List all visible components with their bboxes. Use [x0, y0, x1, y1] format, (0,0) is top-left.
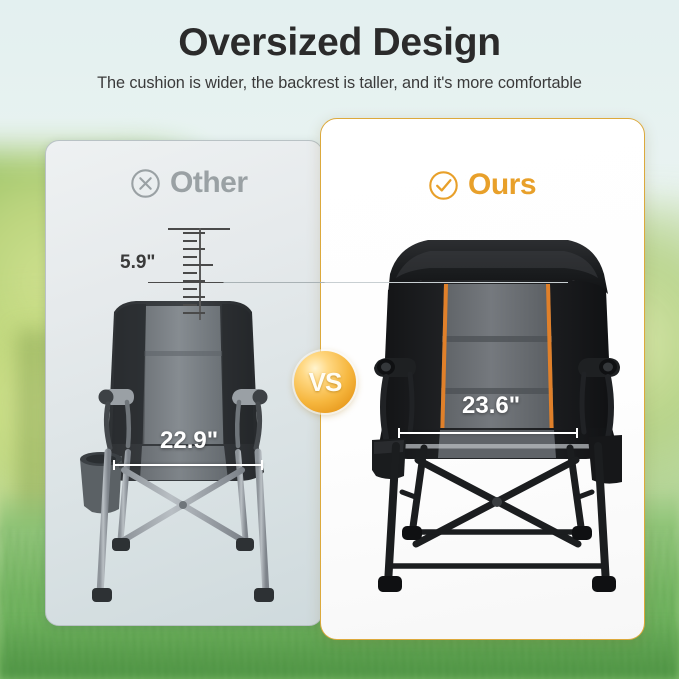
ruler-tick [183, 288, 197, 290]
ruler-tick [183, 240, 197, 242]
measure-reference-line-span [148, 282, 568, 283]
ruler-stem [199, 228, 201, 320]
circle-check-icon [428, 170, 459, 201]
ruler-tick [183, 296, 205, 298]
ruler-tick [183, 312, 205, 314]
height-ruler [183, 228, 217, 320]
ruler-tick [183, 248, 205, 250]
measure-label-backrest-extra: 5.9" [120, 252, 155, 274]
ruler-tick [183, 264, 213, 266]
measure-label-seat-width-ours: 23.6" [462, 392, 520, 420]
width-bar-other [113, 464, 263, 466]
width-bar-ours [398, 432, 578, 434]
measure-label-seat-width-other: 22.9" [160, 427, 218, 455]
header: Oversized Design The cushion is wider, t… [0, 22, 679, 93]
panel-header-other-label: Other [170, 166, 248, 200]
page-subtitle: The cushion is wider, the backrest is ta… [0, 74, 679, 93]
ruler-tick [183, 256, 197, 258]
ruler-tick [183, 304, 197, 306]
ruler-tick [183, 272, 197, 274]
chair-image-ours [372, 232, 622, 614]
ruler-tick [183, 232, 205, 234]
page-title: Oversized Design [0, 22, 679, 65]
vs-badge-label: VS [309, 367, 342, 398]
vs-badge: VS [294, 351, 356, 413]
panel-header-other: Other [130, 166, 248, 200]
panel-header-ours-label: Ours [468, 168, 536, 202]
panel-header-ours: Ours [428, 168, 536, 202]
circle-x-icon [130, 168, 161, 199]
